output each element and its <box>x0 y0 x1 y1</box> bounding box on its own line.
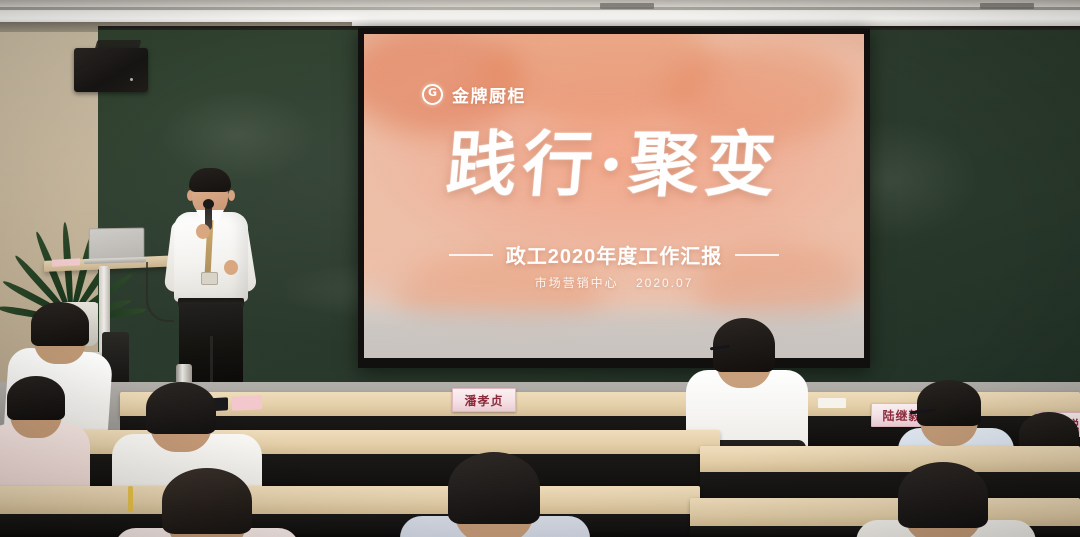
desk-row-mid-right <box>700 446 1080 474</box>
ceiling-light-strip <box>0 7 1080 10</box>
ceiling-vent <box>600 3 654 9</box>
slide-subtitle: 政工2020年度工作汇报 <box>506 240 723 269</box>
desk-panel-front <box>0 514 700 537</box>
desk-row-front <box>0 486 700 516</box>
slide-bottom-fade <box>364 300 864 358</box>
projected-slide: G 金牌厨柜 践行·聚变 政工2020年度工作汇报 市场营销中心 2020.07 <box>364 34 864 358</box>
trouser-seam <box>210 336 213 384</box>
presenter-hair <box>189 168 231 192</box>
slide-subtitle-row: 政工2020年度工作汇报 <box>364 240 864 269</box>
attendee-hair <box>898 462 988 528</box>
pink-notepad <box>232 395 262 411</box>
speaker-led-icon <box>130 78 133 81</box>
brand-g-icon: G <box>422 84 443 105</box>
slide-department: 市场营销中心 <box>535 276 619 290</box>
slide-title: 践行·聚变 <box>364 130 864 200</box>
presenter <box>168 168 254 383</box>
attendee-hair <box>146 382 216 434</box>
slide-date: 2020.07 <box>636 276 693 290</box>
presenter-ear-right <box>228 190 235 201</box>
placard-name: 陆继毅 <box>882 407 921 424</box>
attendee-hair <box>448 452 540 524</box>
name-placard: 潘孝贞 <box>452 388 516 412</box>
attendee-hair <box>917 380 981 426</box>
subtitle-rule-left <box>449 254 493 256</box>
attendee-hair <box>7 376 65 420</box>
presenter-hand-right <box>224 260 238 275</box>
podium-document <box>52 258 80 266</box>
ceiling-vent <box>980 3 1034 9</box>
subtitle-rule-right <box>735 254 779 256</box>
desk-row-mid <box>0 430 720 456</box>
badge-card <box>201 272 218 285</box>
presentation-room-photo: G 金牌厨柜 践行·聚变 政工2020年度工作汇报 市场营销中心 2020.07 <box>0 0 1080 537</box>
brand-name: 金牌厨柜 <box>452 82 526 107</box>
slide-meta: 市场营销中心 2020.07 <box>364 274 864 291</box>
white-paper <box>818 398 846 408</box>
microphone-head-icon <box>203 199 214 209</box>
attendee-hair <box>31 302 89 346</box>
attendee-hair <box>162 468 252 534</box>
slide-brand-lockup: G 金牌厨柜 <box>422 82 526 107</box>
placard-name: 潘孝贞 <box>464 392 503 409</box>
pen <box>128 486 133 512</box>
presenter-hand-left <box>196 224 210 239</box>
wall-speaker-icon <box>74 48 148 92</box>
projection-screen-frame: G 金牌厨柜 践行·聚变 政工2020年度工作汇报 市场营销中心 2020.07 <box>358 28 870 368</box>
